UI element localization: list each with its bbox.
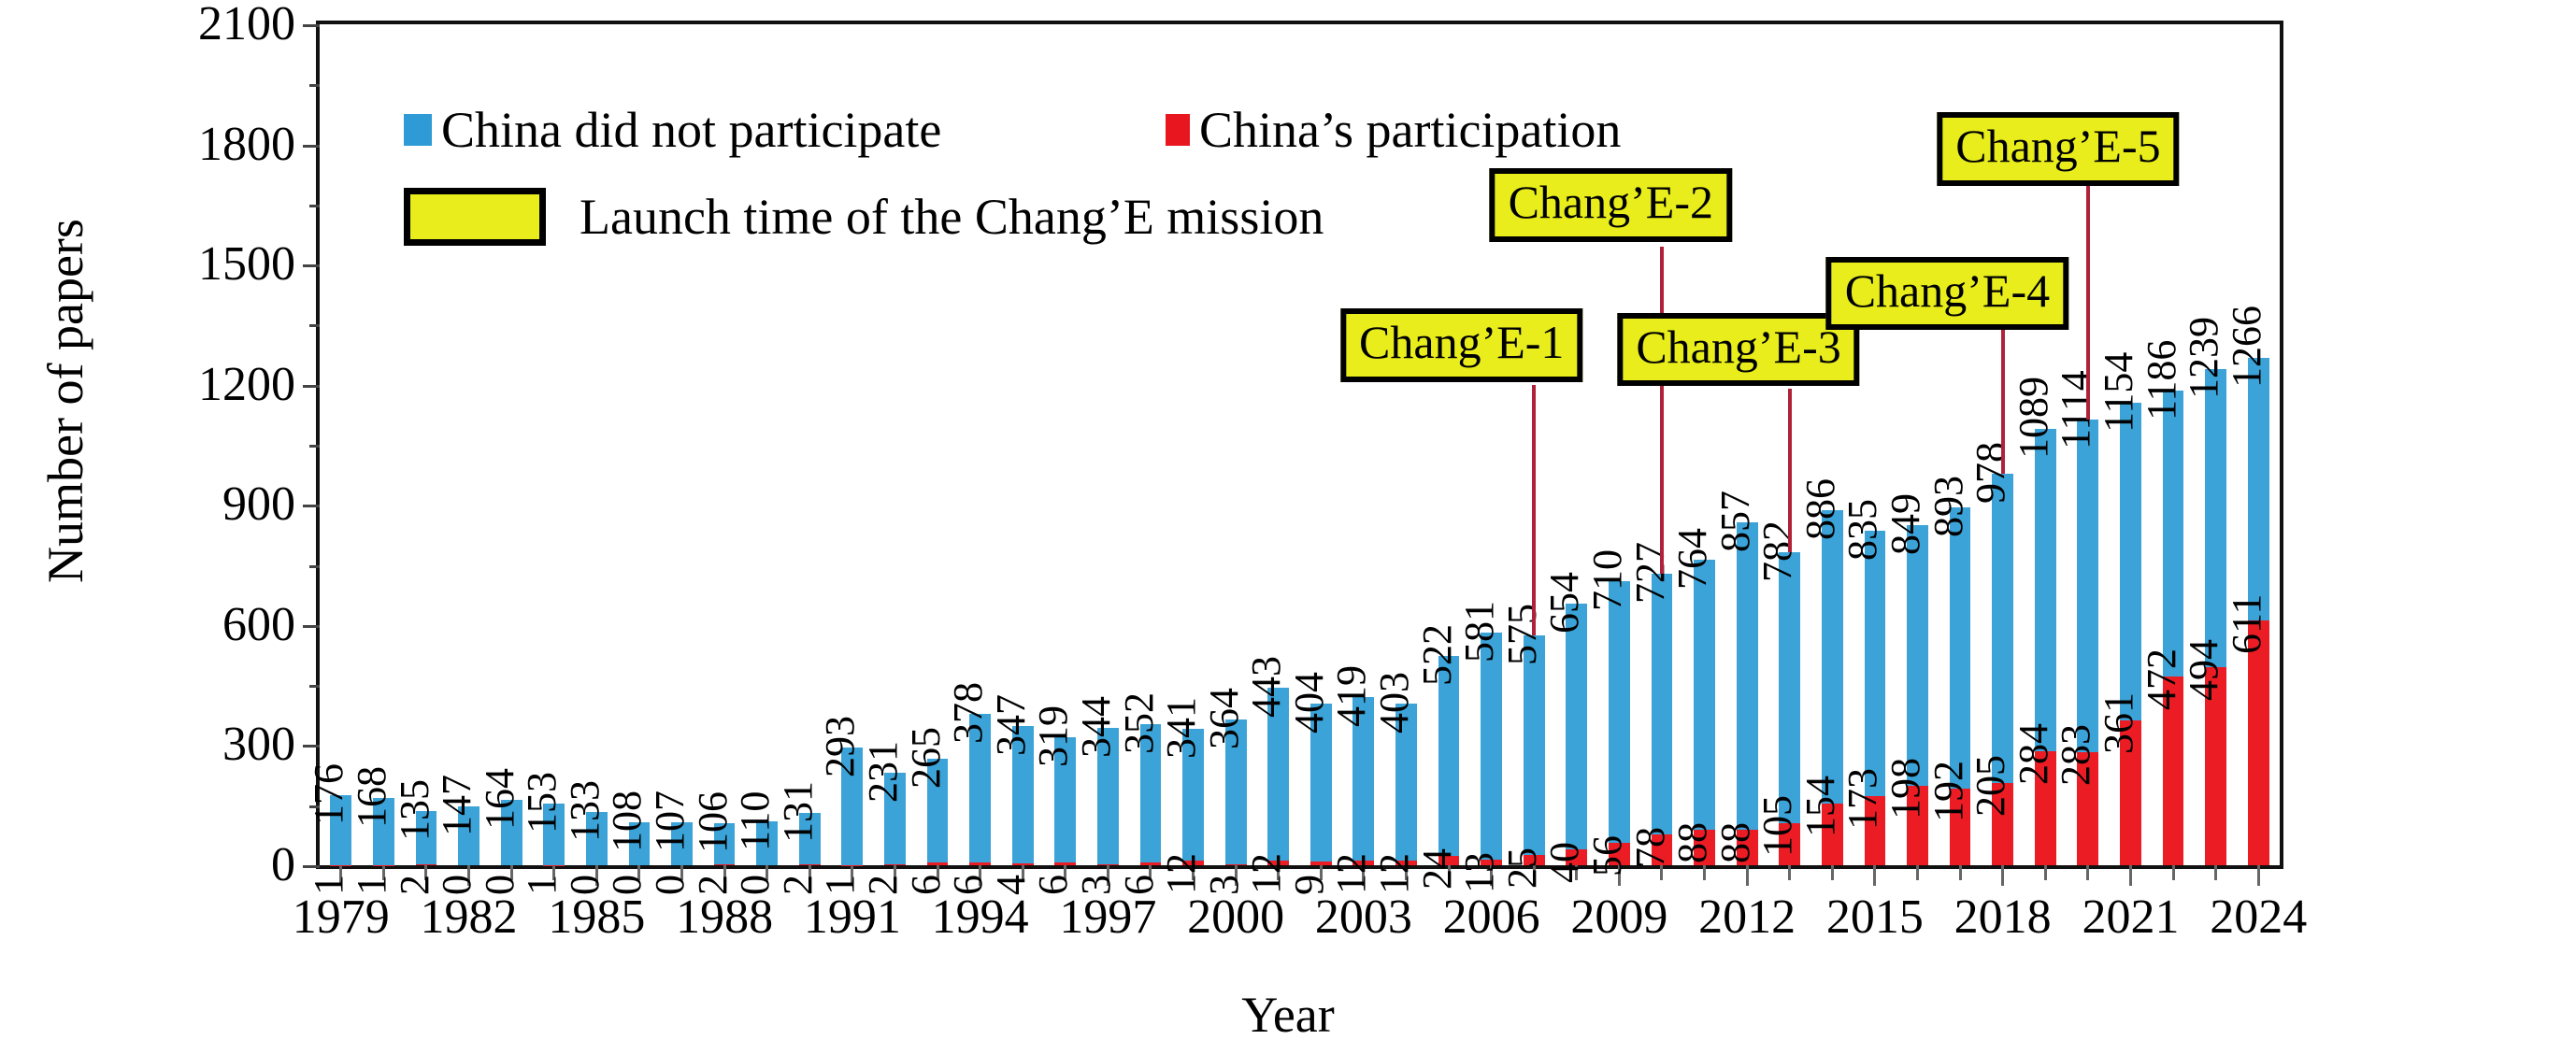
x-axis-title: Year (0, 986, 2576, 1044)
bar-red-value-label: 12 (1161, 853, 1202, 894)
x-tick-label-1994: 1994 (932, 893, 1029, 942)
table-row[interactable] (2035, 429, 2056, 865)
bar-red-value-label: 6 (1119, 875, 1160, 895)
legend-swatch-yellow-icon (404, 188, 546, 246)
bar-value-label: 364 (1204, 688, 1245, 749)
bar-value-label: 522 (1417, 624, 1458, 686)
x-tick-label-1979: 1979 (293, 893, 390, 942)
bar-value-label: 835 (1842, 499, 1883, 561)
bar-value-label: 347 (991, 694, 1032, 756)
bar-red-value-label: 1 (351, 875, 393, 895)
bar-segment-red (1012, 863, 1034, 865)
bar-red-value-label: 105 (1757, 795, 1798, 857)
x-tick-label-2000: 2000 (1187, 893, 1284, 942)
bar-red-value-label: 3 (1076, 875, 1117, 895)
bar-red-value-label: 78 (1630, 827, 1671, 868)
plot-area: 03006009001200150018002100 1979198219851… (316, 21, 2283, 869)
x-tick-2011 (1703, 865, 1706, 880)
bar-red-value-label: 205 (1970, 755, 2011, 817)
y-tick-300 (303, 745, 320, 748)
bar-red-value-label: 2 (863, 875, 904, 895)
y-tick-minor (309, 205, 320, 207)
chart-root: Number of papers Year 030060090012001500… (0, 0, 2576, 1054)
y-tick-label-1800: 1800 (198, 121, 295, 169)
x-tick-label-2018: 2018 (1954, 893, 2052, 942)
mission-annotation-change5[interactable]: Chang’E-5 (1937, 112, 2179, 186)
bar-value-label: 106 (693, 791, 734, 853)
bar-red-value-label: 9 (1289, 875, 1330, 895)
bar-red-value-label: 154 (1800, 776, 1841, 837)
bar-red-value-label: 12 (1246, 853, 1287, 894)
bar-value-label: 403 (1374, 672, 1415, 734)
x-tick-label-1991: 1991 (804, 893, 901, 942)
bar-value-label: 764 (1672, 528, 1713, 590)
bar-red-value-label: 0 (735, 875, 776, 895)
table-row[interactable] (1524, 635, 1545, 865)
table-row[interactable] (1566, 604, 1587, 865)
y-tick-minor (309, 84, 320, 87)
bar-value-label: 849 (1885, 493, 1926, 555)
x-tick-2013 (1788, 865, 1791, 880)
y-tick-2100 (303, 24, 320, 27)
legend-swatch-blue-icon (404, 114, 432, 146)
bar-value-label: 1154 (2098, 352, 2140, 433)
bar-value-label: 344 (1076, 696, 1117, 758)
mission-marker-line (2001, 317, 2005, 474)
bar-value-label: 107 (650, 790, 691, 852)
bar-value-label: 857 (1715, 491, 1756, 552)
x-tick-2020 (2086, 865, 2089, 880)
bar-red-value-label: 12 (1331, 853, 1372, 894)
x-tick-2017 (1959, 865, 1962, 880)
y-tick-1800 (303, 145, 320, 148)
bar-red-value-label: 2 (778, 875, 819, 895)
x-tick-2014 (1831, 865, 1834, 880)
bar-red-value-label: 1 (820, 875, 861, 895)
bar-value-label: 1239 (2183, 317, 2225, 399)
bar-red-value-label: 24 (1417, 848, 1458, 890)
bar-red-value-label: 4 (991, 875, 1032, 895)
x-tick-label-2003: 2003 (1315, 893, 1412, 942)
bar-red-value-label: 88 (1715, 822, 1756, 863)
bar-value-label: 1266 (2226, 306, 2268, 388)
x-tick-2015 (1873, 865, 1876, 886)
bar-red-value-label: 0 (565, 875, 606, 895)
y-tick-600 (303, 625, 320, 628)
bar-red-value-label: 173 (1842, 768, 1883, 830)
y-tick-1500 (303, 264, 320, 267)
bar-value-label: 581 (1459, 601, 1500, 662)
y-tick-0 (303, 865, 320, 868)
x-tick-label-2009: 2009 (1570, 893, 1667, 942)
legend-item-yellow: Launch time of the Chang’E mission (404, 188, 1324, 246)
bar-segment-red (416, 864, 437, 865)
bar-value-label: 293 (820, 716, 861, 777)
bar-red-value-label: 284 (2013, 723, 2054, 785)
bar-segment-red (927, 862, 949, 865)
x-tick-2018 (2001, 865, 2004, 886)
bar-red-value-label: 198 (1885, 758, 1926, 819)
y-tick-label-300: 300 (222, 720, 295, 769)
table-row[interactable] (2120, 403, 2141, 865)
bar-value-label: 133 (565, 780, 606, 842)
table-row[interactable] (2077, 420, 2098, 865)
bar-red-value-label: 3 (1204, 875, 1245, 895)
mission-marker-line (1532, 385, 1536, 635)
bar-value-label: 131 (778, 781, 819, 843)
table-row[interactable] (1609, 581, 1630, 865)
bar-value-label: 231 (863, 741, 904, 803)
bar-red-value-label: 2 (394, 875, 436, 895)
legend-swatch-red-icon (1166, 114, 1190, 146)
bar-red-value-label: 192 (1928, 761, 1969, 822)
bar-segment-red (799, 864, 821, 865)
bar-value-label: 978 (1970, 442, 2011, 504)
bar-value-label: 153 (522, 772, 563, 833)
x-tick-label-1988: 1988 (676, 893, 773, 942)
table-row[interactable] (1481, 633, 1502, 865)
bar-value-label: 654 (1544, 572, 1585, 634)
mission-marker-line (1660, 247, 1664, 575)
x-tick-label-1985: 1985 (548, 893, 645, 942)
bar-value-label: 1186 (2141, 339, 2182, 420)
bar-red-value-label: 1 (308, 875, 350, 895)
table-row[interactable] (1694, 560, 1715, 865)
legend-label-red: China’s participation (1199, 101, 1621, 159)
mission-annotation-change4[interactable]: Chang’E-4 (1826, 257, 2068, 331)
bar-value-label: 108 (607, 790, 648, 852)
bar-segment-red (969, 862, 991, 865)
bar-value-label: 727 (1630, 542, 1671, 604)
bar-segment-blue (1694, 560, 1715, 865)
bar-value-label: 176 (308, 763, 350, 825)
y-tick-minor (309, 565, 320, 568)
bar-value-label: 443 (1246, 656, 1287, 718)
y-tick-label-1500: 1500 (198, 240, 295, 289)
bar-value-label: 265 (906, 727, 947, 789)
y-tick-label-900: 900 (222, 480, 295, 529)
legend-item-red: China’s participation (1166, 101, 1621, 159)
legend-item-blue: China did not participate (404, 101, 941, 159)
bar-red-value-label: 6 (906, 875, 947, 895)
bar-value-label: 1114 (2055, 370, 2097, 449)
bar-red-value-label: 13 (1459, 852, 1500, 893)
bar-value-label: 419 (1331, 665, 1372, 727)
y-tick-1200 (303, 385, 320, 388)
y-tick-minor (309, 324, 320, 327)
bar-segment-red (1054, 862, 1076, 865)
bar-value-label: 110 (735, 790, 776, 850)
bar-red-value-label: 0 (436, 875, 478, 895)
bar-value-label: 164 (479, 768, 521, 830)
x-tick-label-2006: 2006 (1443, 893, 1540, 942)
bar-segment-red (714, 864, 736, 865)
bar-red-value-label: 494 (2183, 639, 2225, 701)
bar-value-label: 135 (394, 779, 436, 841)
mission-annotation-change3[interactable]: Chang’E-3 (1617, 313, 1859, 387)
bar-red-value-label: 25 (1502, 847, 1543, 889)
x-tick-label-1982: 1982 (421, 893, 518, 942)
bar-red-value-label: 1 (522, 875, 563, 895)
table-row[interactable] (1438, 656, 1460, 865)
x-tick-label-2015: 2015 (1826, 893, 1924, 942)
bar-red-value-label: 2 (693, 875, 734, 895)
bar-red-value-label: 611 (2226, 594, 2268, 654)
bar-value-label: 147 (436, 775, 478, 836)
bar-red-value-label: 361 (2098, 692, 2140, 754)
x-tick-label-2024: 2024 (2210, 893, 2307, 942)
y-tick-label-600: 600 (222, 601, 295, 649)
x-tick-2012 (1746, 865, 1749, 886)
bar-value-label: 710 (1587, 549, 1628, 611)
bar-red-value-label: 0 (650, 875, 691, 895)
bar-value-label: 404 (1289, 672, 1330, 734)
bar-value-label: 1089 (2013, 377, 2054, 459)
x-tick-label-2012: 2012 (1698, 893, 1796, 942)
y-tick-minor (309, 685, 320, 688)
y-axis-title: Number of papers (36, 121, 94, 681)
bar-value-label: 893 (1928, 476, 1969, 537)
x-tick-2024 (2257, 865, 2260, 886)
legend-label-blue: China did not participate (441, 101, 941, 159)
x-tick-2019 (2044, 865, 2047, 880)
bar-value-label: 319 (1033, 705, 1074, 767)
bar-red-value-label: 88 (1672, 822, 1713, 863)
y-tick-900 (303, 505, 320, 507)
bar-red-value-label: 472 (2141, 648, 2182, 710)
mission-marker-line (2086, 177, 2090, 420)
bar-segment-red (884, 864, 906, 865)
bar-red-value-label: 283 (2055, 724, 2097, 786)
mission-annotation-change2[interactable]: Chang’E-2 (1490, 168, 1732, 242)
bar-value-label: 341 (1161, 697, 1202, 759)
bar-segment-blue (1438, 656, 1460, 865)
mission-annotation-change1[interactable]: Chang’E-1 (1340, 308, 1582, 382)
bar-segment-blue (1524, 635, 1545, 865)
bar-red-value-label: 6 (1033, 875, 1074, 895)
bar-value-label: 575 (1502, 604, 1543, 665)
y-tick-label-2100: 2100 (198, 0, 295, 49)
y-tick-label-1200: 1200 (198, 361, 295, 409)
bar-segment-blue (1609, 581, 1630, 865)
bar-value-label: 378 (948, 682, 989, 744)
bar-red-value-label: 12 (1374, 853, 1415, 894)
y-tick-minor (309, 445, 320, 448)
table-row[interactable] (2163, 391, 2184, 865)
bar-segment-blue (1481, 633, 1502, 865)
legend-label-yellow: Launch time of the Chang’E mission (580, 188, 1324, 246)
x-tick-2021 (2129, 865, 2132, 886)
bar-value-label: 352 (1119, 692, 1160, 754)
x-tick-2023 (2214, 865, 2217, 880)
x-tick-2016 (1916, 865, 1919, 880)
bar-segment-red (1097, 864, 1119, 865)
x-tick-label-1997: 1997 (1059, 893, 1156, 942)
bar-value-label: 168 (351, 766, 393, 828)
bar-red-value-label: 56 (1587, 835, 1628, 876)
bar-red-value-label: 0 (479, 875, 521, 895)
bar-red-value-label: 0 (607, 875, 648, 895)
bar-value-label: 782 (1757, 520, 1798, 582)
bar-value-label: 886 (1800, 478, 1841, 540)
x-tick-2022 (2172, 865, 2175, 880)
bar-segment-blue (1566, 604, 1587, 865)
y-tick-label-0: 0 (271, 841, 295, 890)
bar-red-value-label: 6 (948, 875, 989, 895)
bar-red-value-label: 40 (1544, 842, 1585, 883)
bar-segment-red (2248, 620, 2269, 865)
x-tick-label-2021: 2021 (2082, 893, 2179, 942)
mission-marker-line (1788, 389, 1792, 552)
